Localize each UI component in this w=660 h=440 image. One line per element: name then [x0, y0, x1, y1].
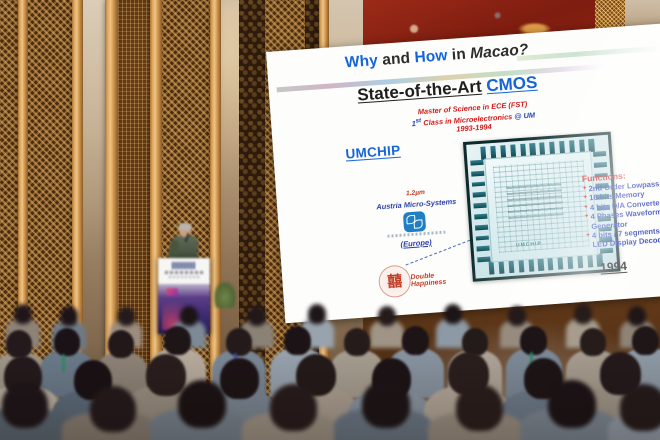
slide-surface: Why and How in Macao? State-of-the-Art C…	[266, 23, 660, 323]
audience-head	[402, 326, 429, 355]
audience-head	[344, 328, 370, 356]
audience-head	[362, 380, 410, 428]
projection-screen: Why and How in Macao? State-of-the-Art C…	[266, 23, 660, 323]
audience-head	[548, 380, 596, 428]
decorative-rule-top	[517, 45, 660, 61]
slide-year-label: 1994	[600, 259, 628, 275]
audience-head	[270, 384, 317, 431]
audience-head	[628, 306, 646, 326]
audience-head	[520, 326, 547, 355]
dh-line2: Happiness	[411, 279, 447, 289]
audience-head	[574, 304, 592, 324]
austria-micro-systems-logo-icon	[403, 211, 426, 233]
double-happiness-label: Double Happiness	[410, 271, 457, 289]
audience-head	[178, 380, 226, 428]
audience-head	[456, 384, 503, 431]
audience-head	[444, 304, 462, 324]
podium-text-line	[165, 271, 203, 274]
speaker-hair	[178, 223, 192, 230]
functions-list: 2nd Order Lowpass Filt 16 bits Memory 4 …	[582, 176, 660, 250]
audience-head	[14, 304, 32, 324]
audience-head	[54, 328, 80, 356]
audience-head	[508, 306, 526, 326]
audience	[0, 290, 660, 440]
podium-sign-panel	[158, 258, 210, 284]
audience-head	[146, 354, 186, 396]
podium-logo-icon	[172, 262, 196, 269]
audience-head	[6, 330, 32, 358]
lanyard	[62, 354, 65, 372]
audience-head	[284, 326, 311, 355]
podium-text-subline	[169, 276, 199, 278]
audience-head	[90, 386, 136, 432]
audience-head	[2, 382, 48, 428]
slide-title-in: in	[447, 45, 471, 64]
audience-head	[620, 384, 660, 431]
audience-head	[180, 306, 198, 326]
slide-title-how: How	[414, 47, 448, 66]
slide-title-why: Why	[344, 52, 378, 71]
audience-head	[108, 330, 134, 358]
audience-head	[580, 328, 606, 356]
audience-head	[60, 306, 78, 326]
audience-head	[632, 326, 659, 355]
umchip-label: UMCHIP	[345, 143, 401, 162]
audience-head	[308, 304, 326, 324]
audience-head	[118, 307, 135, 326]
audience-head	[378, 306, 396, 326]
audience-head	[164, 326, 191, 355]
audience-head	[226, 328, 252, 356]
slide-title: Why and How in Macao?	[344, 41, 529, 72]
audience-head	[248, 306, 266, 326]
screenshot-root: Why and How in Macao? State-of-the-Art C…	[0, 0, 660, 440]
slide-title-and: and	[377, 49, 415, 69]
slide-heading-cmos: CMOS	[486, 73, 538, 96]
audience-head	[220, 358, 259, 399]
